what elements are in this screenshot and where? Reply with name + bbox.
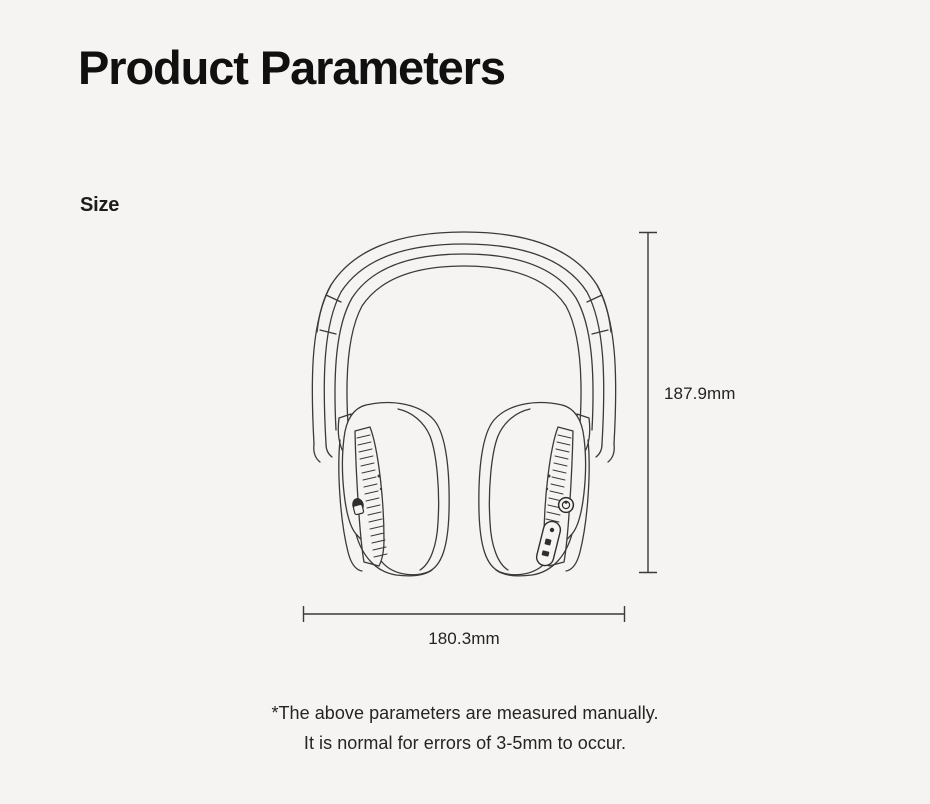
footnote-line-2: It is normal for errors of 3-5mm to occu…: [0, 728, 930, 758]
width-dimension-label: 180.3mm: [428, 629, 500, 648]
power-button-icon: [559, 498, 574, 513]
left-earcup: [339, 403, 449, 576]
vertical-dimension-line: [639, 232, 657, 573]
right-earcup-mic-dots: [546, 475, 551, 491]
left-earcup-port-icon: [351, 498, 364, 515]
headband-arc: [312, 232, 615, 444]
right-earcup: [479, 403, 589, 576]
height-dimension-label: 187.9mm: [664, 384, 736, 404]
page-title: Product Parameters: [78, 42, 505, 95]
right-yoke-arm: [571, 414, 614, 462]
section-label-size: Size: [80, 194, 119, 217]
left-yoke-arm: [314, 414, 357, 462]
headphones-illustration: [0, 0, 930, 804]
headphones-line-art-svg: [0, 0, 930, 804]
footnote: *The above parameters are measured manua…: [0, 698, 930, 758]
left-earcup-mic-dots: [378, 475, 383, 491]
right-headband-slider: [587, 285, 611, 334]
width-dimension-label-wrap: 180.3mm: [303, 629, 625, 649]
three-button-control-cluster: [535, 520, 562, 568]
horizontal-dimension-line: [303, 606, 625, 622]
footnote-line-1: *The above parameters are measured manua…: [0, 698, 930, 728]
product-parameters-page: Product Parameters Size: [0, 0, 930, 804]
left-headband-slider: [317, 285, 341, 334]
